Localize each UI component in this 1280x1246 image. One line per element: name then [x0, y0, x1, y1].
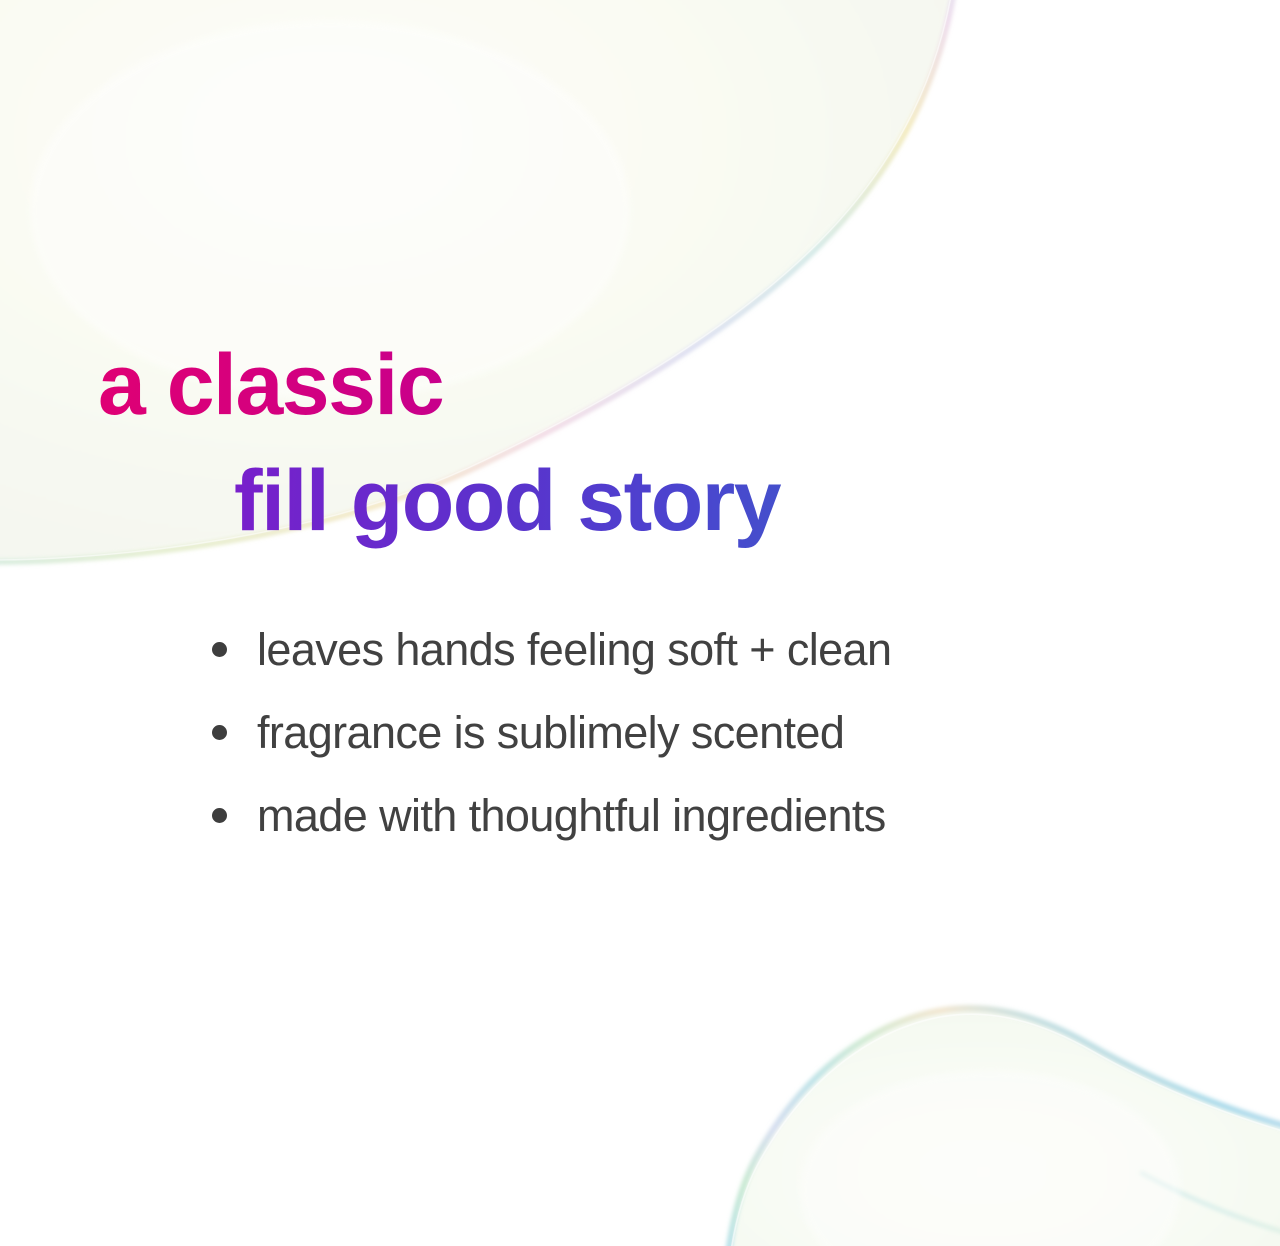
- list-item: fragrance is sublimely scented: [0, 691, 1280, 774]
- list-item: made with thoughtful ingredients: [0, 774, 1280, 857]
- feature-text: made with thoughtful ingredients: [257, 790, 886, 842]
- bullet-dot-icon: [212, 808, 227, 823]
- headline-block: a classic fill good story: [0, 330, 1280, 556]
- feature-text: leaves hands feeling soft + clean: [257, 624, 891, 676]
- product-benefits-panel: a classic fill good story leaves hands f…: [0, 0, 1280, 1246]
- headline-line-1: a classic: [0, 330, 1280, 440]
- headline-line-2: fill good story: [0, 446, 1280, 556]
- list-item: leaves hands feeling soft + clean: [0, 608, 1280, 691]
- bullet-dot-icon: [212, 725, 227, 740]
- feature-text: fragrance is sublimely scented: [257, 707, 844, 759]
- soap-bubble-bottom-right-group: [724, 1008, 1280, 1246]
- bullet-dot-icon: [212, 642, 227, 657]
- feature-list: leaves hands feeling soft + clean fragra…: [0, 608, 1280, 857]
